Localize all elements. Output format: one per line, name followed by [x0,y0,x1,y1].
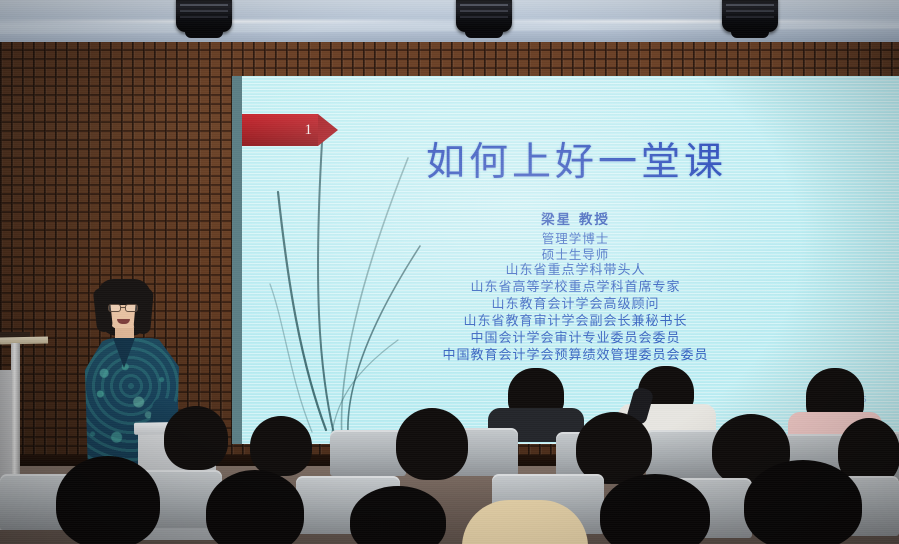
auditorium-chair [330,430,406,476]
audience-head [744,460,862,544]
audience-head [396,408,468,480]
audience-head [206,470,304,544]
audience-head [164,406,228,470]
audience-head [350,486,446,544]
lecture-hall-photo: 1 如何上好一堂课 梁星 教授 管理学博士 硕士生导师 山东省重点学科带头人 山… [0,0,899,544]
audience-head [56,456,160,544]
audience-head [250,416,312,476]
audience-area [0,0,899,544]
